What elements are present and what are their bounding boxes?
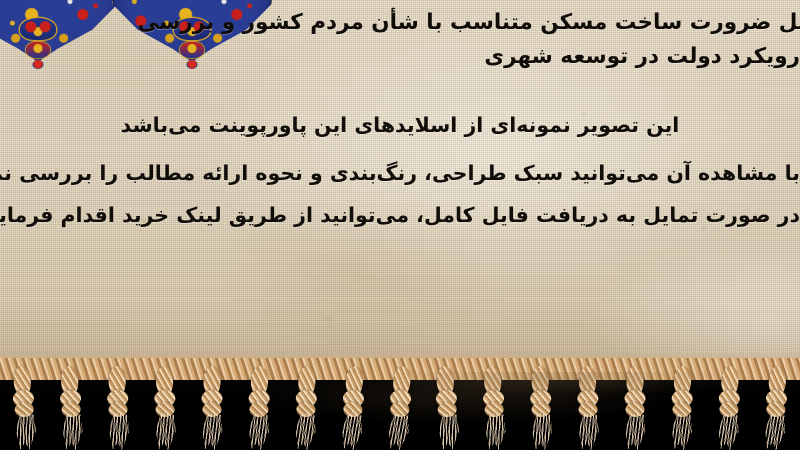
presentation-slide: یل ضرورت ساخت مسکن متناسب با شأن مردم کش… [0, 0, 800, 450]
carpet-band-sheen [0, 372, 800, 450]
slide-title-line-2: رویکرد دولت در توسعه شهری [10, 40, 800, 74]
slide-title-line-1: یل ضرورت ساخت مسکن متناسب با شأن مردم کش… [10, 6, 800, 40]
slide-body-line-1: این تصویر نمونه‌ای از اسلایدهای این پاور… [0, 110, 800, 140]
slide-body-line-2: با مشاهده آن می‌توانید سبک طراحی، رنگ‌بن… [0, 158, 800, 188]
slide-text-layer: یل ضرورت ساخت مسکن متناسب با شأن مردم کش… [0, 0, 800, 380]
slide-body-line-3: در صورت تمایل به دریافت فایل کامل، می‌تو… [0, 200, 800, 230]
slide-title: یل ضرورت ساخت مسکن متناسب با شأن مردم کش… [0, 6, 800, 74]
slide-body: این تصویر نمونه‌ای از اسلایدهای این پاور… [0, 110, 800, 230]
